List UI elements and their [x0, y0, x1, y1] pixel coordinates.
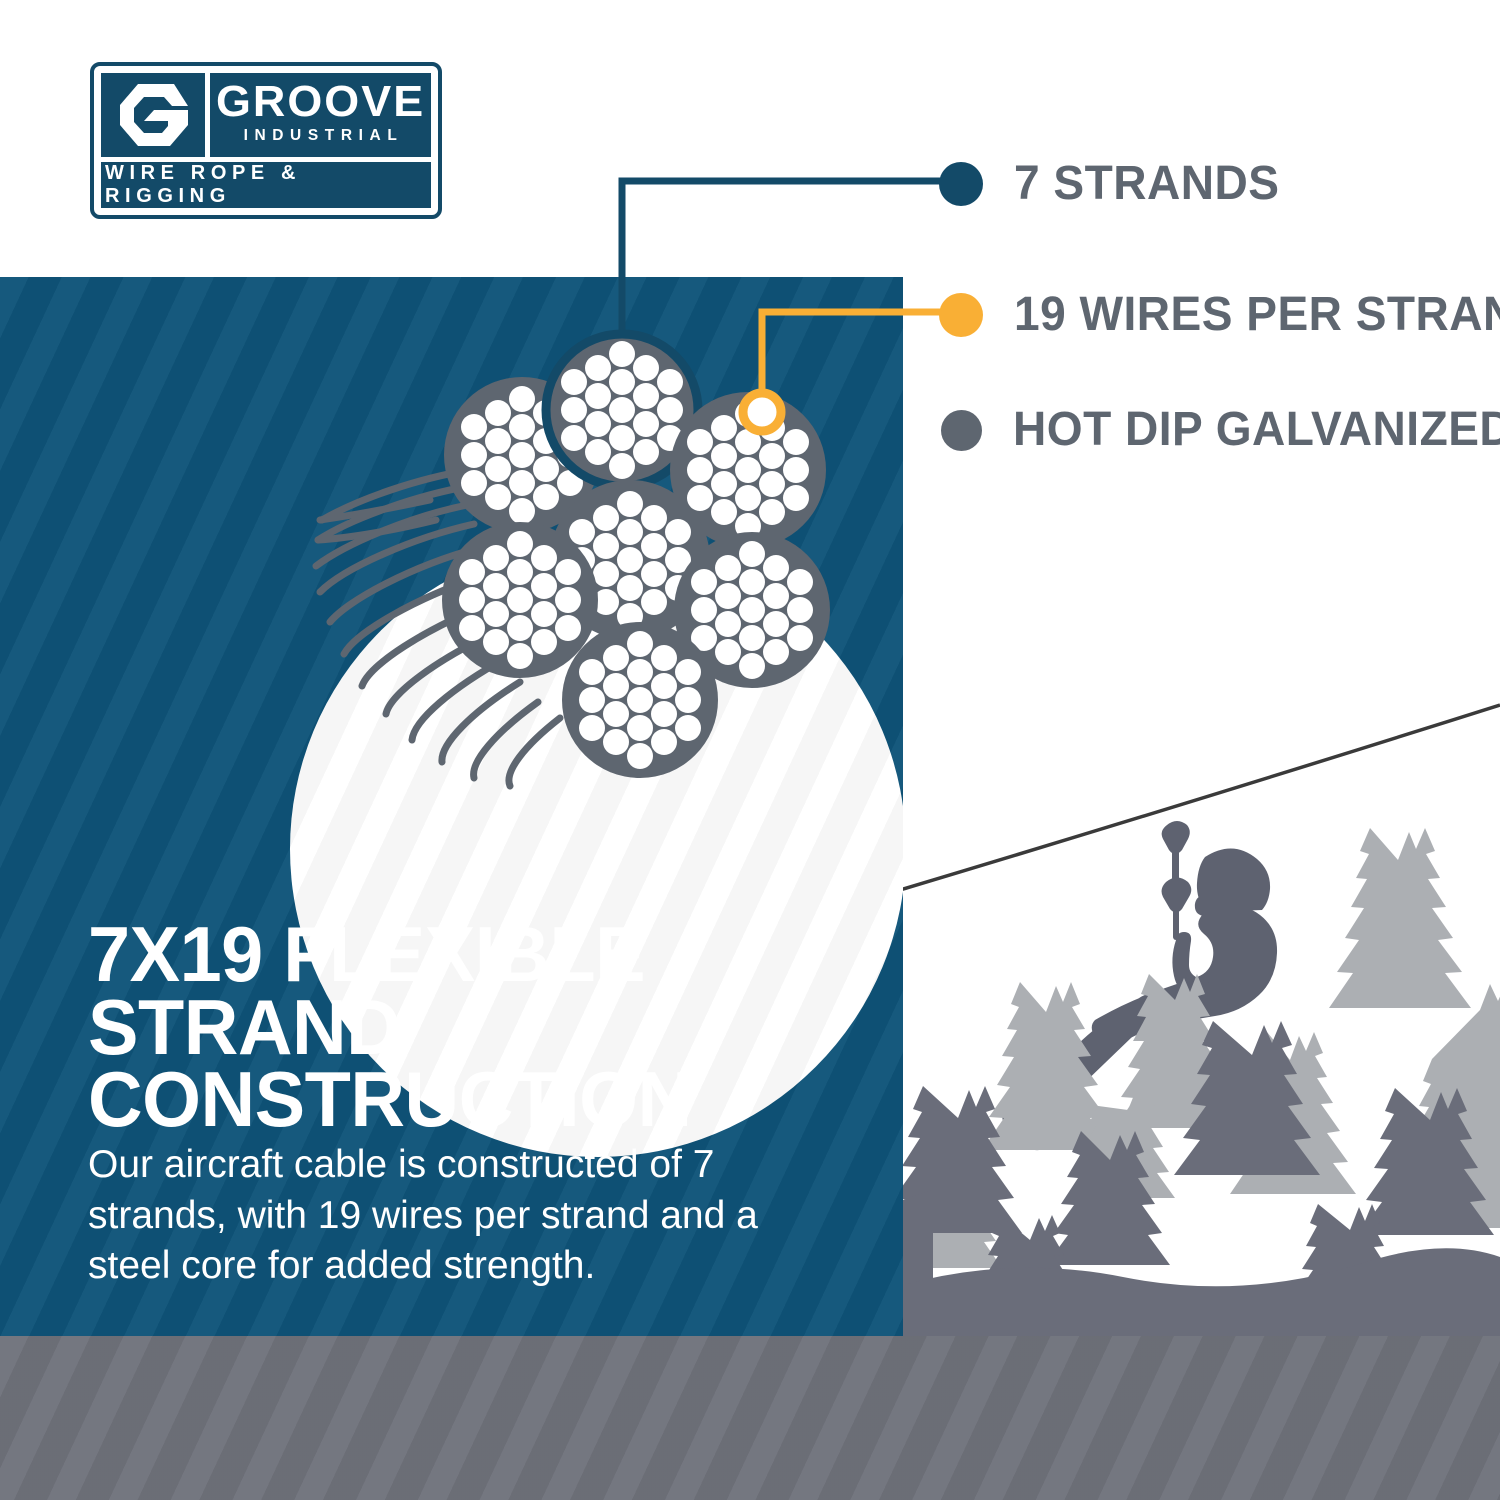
callout-label: 19 WIRES PER STRAND: [1014, 291, 1500, 339]
callout-dot-icon: [939, 293, 983, 337]
panel-body-text: Our aircraft cable is constructed of 7 s…: [88, 1140, 788, 1292]
callout-dot-icon: [941, 410, 982, 451]
tree-layer-front: [886, 1021, 1500, 1336]
headline-line-2: STRAND CONSTRUCTION: [88, 991, 854, 1136]
brand-tagline: WIRE ROPE & RIGGING: [105, 162, 431, 208]
zipline-rider-silhouette: [1002, 821, 1277, 1150]
callout-19-wires: 19 WIRES PER STRAND: [939, 291, 1500, 339]
callout-hot-dip-galvanized: HOT DIP GALVANIZED: [941, 406, 1500, 454]
callout-label: 7 STRANDS: [1014, 160, 1279, 208]
brand-name: GROOVE: [216, 82, 425, 122]
brand-logo[interactable]: GROOVE INDUSTRIAL WIRE ROPE & RIGGING: [90, 62, 442, 219]
bottom-ground-band: [0, 1336, 1500, 1500]
callout-label: HOT DIP GALVANIZED: [1013, 406, 1500, 454]
infographic-canvas: GROOVE INDUSTRIAL WIRE ROPE & RIGGING 7 …: [0, 0, 1500, 1500]
callout-7-strands: 7 STRANDS: [939, 160, 1291, 208]
headline-line-1: 7X19 FLEXIBLE: [88, 918, 854, 991]
zipline-cable: [900, 705, 1500, 890]
panel-headline: 7X19 FLEXIBLE STRAND CONSTRUCTION: [88, 918, 854, 1136]
brand-subtitle: INDUSTRIAL: [244, 127, 404, 145]
groove-g-mark-icon: [101, 73, 205, 157]
callout-dot-icon: [939, 162, 983, 206]
tree-layer-back: [900, 828, 1500, 1268]
